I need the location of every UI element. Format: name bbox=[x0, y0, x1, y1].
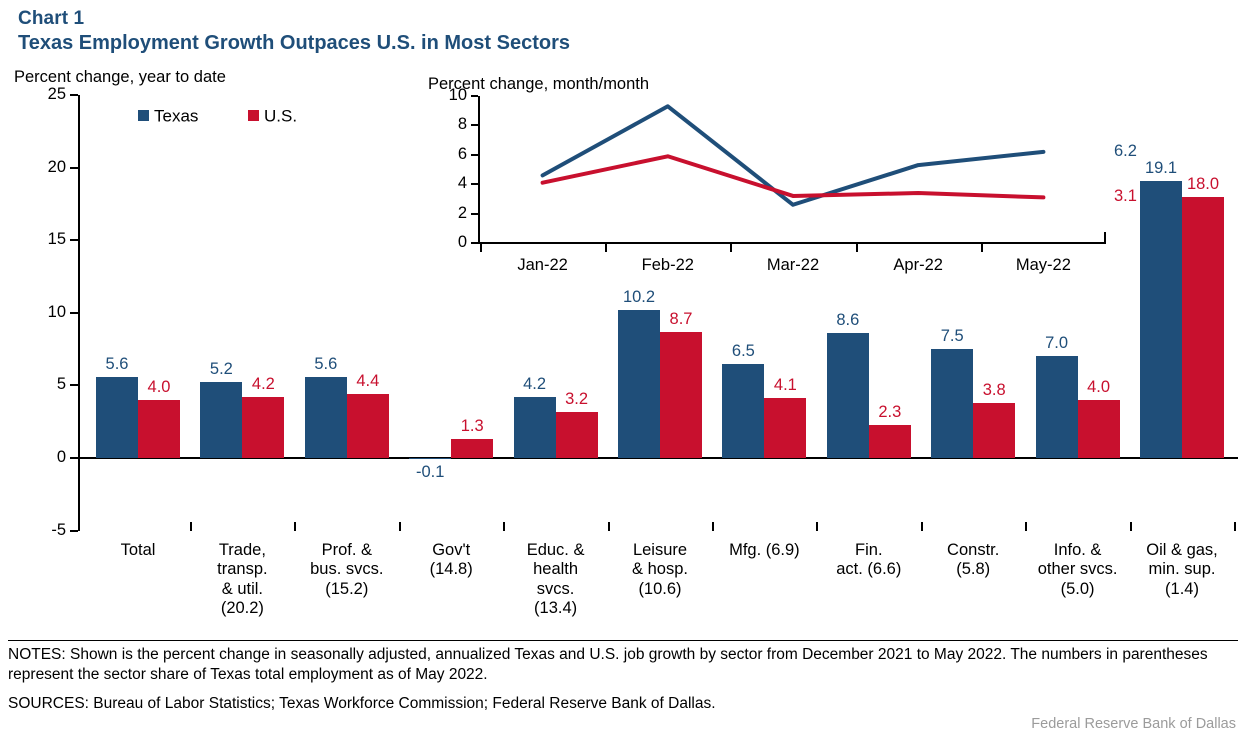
sources-text: SOURCES: Bureau of Labor Statistics; Tex… bbox=[8, 694, 1238, 714]
y-axis-tick bbox=[70, 312, 78, 314]
x-axis-tick bbox=[294, 522, 296, 531]
category-label: Educ. & health svcs. (13.4) bbox=[496, 541, 616, 619]
bar-us[interactable] bbox=[1078, 400, 1120, 458]
bar-value-label-us: 2.3 bbox=[859, 403, 921, 422]
bar-tx[interactable] bbox=[1036, 356, 1078, 458]
inset-end-label-texas: 6.2 bbox=[1114, 142, 1137, 161]
inset-line-us bbox=[543, 156, 1044, 197]
inset-line-texas bbox=[543, 106, 1044, 204]
legend-swatch-us-icon bbox=[248, 110, 259, 121]
chart-title: Texas Employment Growth Outpaces U.S. in… bbox=[18, 32, 570, 55]
bar-us[interactable] bbox=[556, 412, 598, 458]
y-axis-tick bbox=[70, 384, 78, 386]
x-axis-tick bbox=[816, 522, 818, 531]
bar-us[interactable] bbox=[869, 425, 911, 458]
legend-label-texas: Texas bbox=[154, 107, 198, 126]
bar-us[interactable] bbox=[764, 398, 806, 458]
bar-value-label-us: 4.0 bbox=[1068, 378, 1130, 397]
bar-value-label-us: 4.1 bbox=[754, 376, 816, 395]
bar-us[interactable] bbox=[347, 394, 389, 458]
category-label: Constr. (5.8) bbox=[913, 541, 1033, 580]
bar-us[interactable] bbox=[242, 397, 284, 458]
y-axis-tick bbox=[70, 94, 78, 96]
y-axis-tick bbox=[70, 167, 78, 169]
bar-value-label-us: 8.7 bbox=[650, 310, 712, 329]
category-label: Leisure & hosp. (10.6) bbox=[600, 541, 720, 600]
bar-us[interactable] bbox=[138, 400, 180, 458]
bar-tx[interactable] bbox=[827, 333, 869, 458]
bar-tx[interactable] bbox=[409, 458, 451, 459]
bar-value-label-us: 4.0 bbox=[128, 378, 190, 397]
category-label: Fin. act. (6.6) bbox=[809, 541, 929, 580]
y-axis-label: 15 bbox=[0, 231, 66, 247]
category-label: Info. & other svcs. (5.0) bbox=[1018, 541, 1138, 600]
category-label: Oil & gas, min. sup. (1.4) bbox=[1122, 541, 1242, 600]
x-axis-tick bbox=[712, 522, 714, 531]
bar-value-label-us: 1.3 bbox=[441, 417, 503, 436]
legend-swatch-texas-icon bbox=[138, 110, 149, 121]
legend-item-texas: Texas bbox=[138, 106, 198, 127]
bar-value-label-tx: 10.2 bbox=[608, 288, 670, 307]
category-label: Total bbox=[78, 541, 198, 561]
bar-value-label-tx: 6.5 bbox=[712, 342, 774, 361]
bar-us[interactable] bbox=[451, 439, 493, 458]
inset-line-chart: 0246810 Jan-22Feb-22Mar-22Apr-22May-22 6… bbox=[430, 96, 1110, 274]
y-axis-label: 0 bbox=[0, 449, 66, 465]
bar-value-label-us: 3.2 bbox=[546, 390, 608, 409]
bar-value-label-tx: 5.6 bbox=[295, 355, 357, 374]
x-axis-tick bbox=[1025, 522, 1027, 531]
x-axis-tick bbox=[190, 522, 192, 531]
y-axis-tick bbox=[70, 530, 78, 532]
x-axis-tick bbox=[1234, 522, 1236, 531]
x-axis-tick bbox=[399, 522, 401, 531]
bar-us[interactable] bbox=[1182, 197, 1224, 458]
y-axis-tick bbox=[70, 457, 78, 459]
bar-value-label-tx: 8.6 bbox=[817, 311, 879, 330]
bar-value-label-us: 4.4 bbox=[337, 372, 399, 391]
bar-us[interactable] bbox=[973, 403, 1015, 458]
bar-us[interactable] bbox=[660, 332, 702, 458]
x-axis-tick bbox=[78, 522, 80, 531]
footer-divider bbox=[8, 640, 1238, 641]
bar-tx[interactable] bbox=[618, 310, 660, 458]
x-axis-tick bbox=[503, 522, 505, 531]
legend-item-us: U.S. bbox=[248, 106, 297, 127]
bar-value-label-tx: 7.0 bbox=[1026, 334, 1088, 353]
y-axis-label: 5 bbox=[0, 376, 66, 392]
bar-value-label-tx: 7.5 bbox=[921, 327, 983, 346]
x-axis-tick bbox=[608, 522, 610, 531]
bar-tx[interactable] bbox=[931, 349, 973, 458]
bar-value-label-tx: 5.6 bbox=[86, 355, 148, 374]
inset-series-lines bbox=[430, 96, 1110, 274]
category-label: Prof. & bus. svcs. (15.2) bbox=[287, 541, 407, 600]
legend-label-us: U.S. bbox=[264, 107, 297, 126]
y-axis-label: 20 bbox=[0, 159, 66, 175]
credit-text: Federal Reserve Bank of Dallas bbox=[1031, 716, 1236, 732]
y-axis-label: 25 bbox=[0, 86, 66, 102]
chart-number: Chart 1 bbox=[18, 8, 84, 30]
inset-end-label-us: 3.1 bbox=[1114, 187, 1137, 206]
main-y-axis-line bbox=[78, 95, 80, 531]
category-label: Gov't (14.8) bbox=[391, 541, 511, 580]
bar-value-label-tx: -0.1 bbox=[399, 463, 461, 482]
x-axis-tick bbox=[921, 522, 923, 531]
notes-text: NOTES: Shown is the percent change in se… bbox=[8, 645, 1238, 684]
bar-value-label-us: 3.8 bbox=[963, 381, 1025, 400]
category-label: Trade, transp. & util. (20.2) bbox=[182, 541, 302, 619]
category-label: Mfg. (6.9) bbox=[704, 541, 824, 561]
bar-value-label-us: 4.2 bbox=[232, 375, 294, 394]
x-axis-tick bbox=[1130, 522, 1132, 531]
y-axis-tick bbox=[70, 239, 78, 241]
y-axis-label: 10 bbox=[0, 304, 66, 320]
main-axis-subtitle: Percent change, year to date bbox=[14, 68, 226, 87]
bar-value-label-us: 18.0 bbox=[1172, 175, 1234, 194]
bar-tx[interactable] bbox=[1140, 181, 1182, 458]
y-axis-label: -5 bbox=[0, 522, 66, 538]
